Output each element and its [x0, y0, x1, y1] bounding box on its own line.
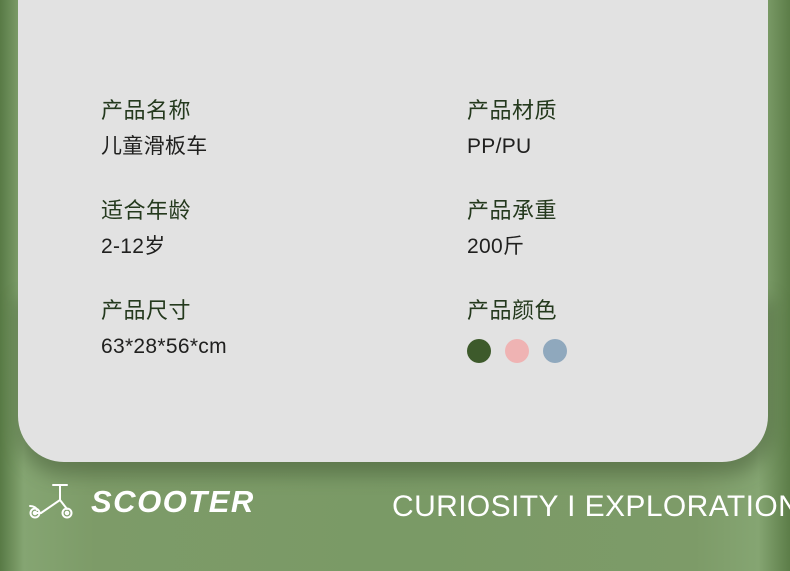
spec-value: PP/PU: [467, 133, 701, 161]
spec-value: 63*28*56*cm: [101, 333, 467, 361]
spec-value: 200斤: [467, 233, 701, 261]
spec-item-dimensions: 产品尺寸 63*28*56*cm: [101, 296, 467, 396]
spec-label: 产品名称: [101, 96, 467, 126]
spec-value: 2-12岁: [101, 233, 467, 261]
spec-label: 适合年龄: [101, 196, 467, 226]
spec-card: 产品名称 儿童滑板车 产品材质 PP/PU 适合年龄 2-12岁 产品承重 20…: [18, 0, 768, 462]
scooter-icon: [24, 478, 76, 524]
spec-value: 儿童滑板车: [101, 133, 467, 161]
spec-item-product-name: 产品名称 儿童滑板车: [101, 96, 467, 196]
brand-name: SCOOTER: [91, 486, 255, 517]
spec-grid: 产品名称 儿童滑板车 产品材质 PP/PU 适合年龄 2-12岁 产品承重 20…: [101, 96, 701, 396]
color-swatch-pink[interactable]: [505, 339, 529, 363]
color-swatch-list: [467, 339, 701, 363]
spec-label: 产品材质: [467, 96, 701, 126]
spec-label: 产品尺寸: [101, 296, 467, 326]
spec-item-colors: 产品颜色: [467, 296, 701, 396]
footer-tagline: CURIOSITY I EXPLORATION: [392, 492, 790, 522]
spec-item-age-range: 适合年龄 2-12岁: [101, 196, 467, 296]
color-swatch-blue-gray[interactable]: [543, 339, 567, 363]
spec-item-load-capacity: 产品承重 200斤: [467, 196, 701, 296]
spec-item-material: 产品材质 PP/PU: [467, 96, 701, 196]
brand-lockup: SCOOTER: [24, 478, 255, 524]
spec-label: 产品颜色: [467, 296, 701, 326]
product-spec-banner: 产品名称 儿童滑板车 产品材质 PP/PU 适合年龄 2-12岁 产品承重 20…: [0, 0, 790, 571]
color-swatch-dark-green[interactable]: [467, 339, 491, 363]
spec-label: 产品承重: [467, 196, 701, 226]
footer-bar: SCOOTER CURIOSITY I EXPLORATION: [0, 468, 790, 571]
